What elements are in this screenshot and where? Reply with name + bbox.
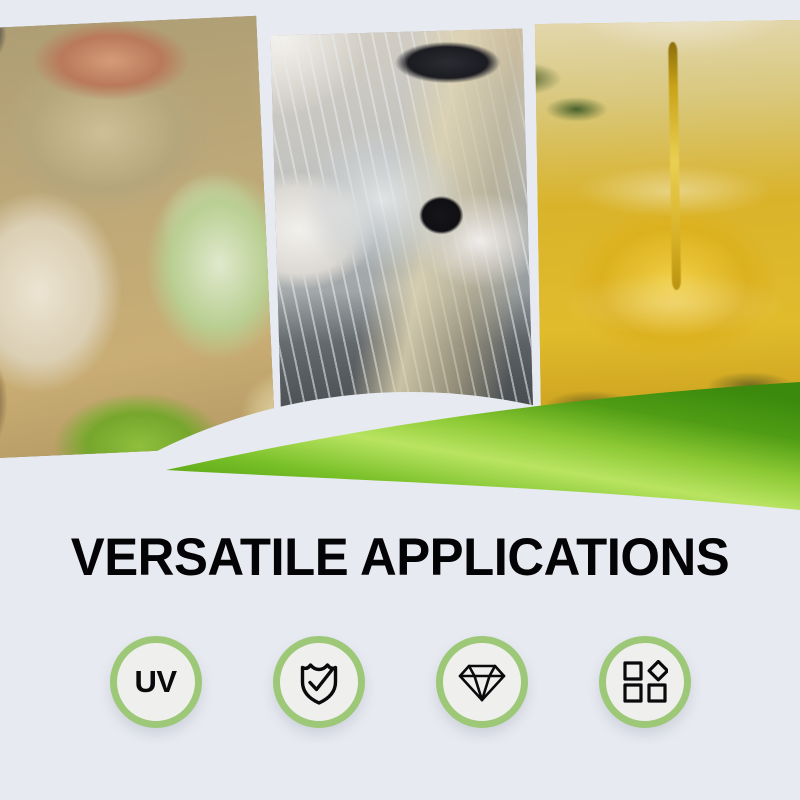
feature-badge-row: UV [0,636,800,728]
photo-strip [0,0,800,470]
photo-dish-rack [270,29,533,434]
badge-applications[interactable] [599,636,691,728]
badge-uv[interactable]: UV [110,636,202,728]
shield-check-icon [296,658,342,706]
photo-legumes-jars-image [0,16,276,458]
photo-legumes-jars [0,16,276,458]
photo-dish-rack-image [270,29,533,434]
page-title: VERSATILE APPLICATIONS [16,527,784,588]
badge-protection[interactable] [273,636,365,728]
versatile-applications-banner: VERSATILE APPLICATIONS UV [0,0,800,800]
photo-olive-oil [535,20,800,424]
diamond-icon [458,660,506,704]
badge-quality[interactable] [436,636,528,728]
uv-text-icon: UV [134,664,176,700]
photo-olive-oil-image [535,20,800,424]
grid-shapes-icon [622,660,668,704]
